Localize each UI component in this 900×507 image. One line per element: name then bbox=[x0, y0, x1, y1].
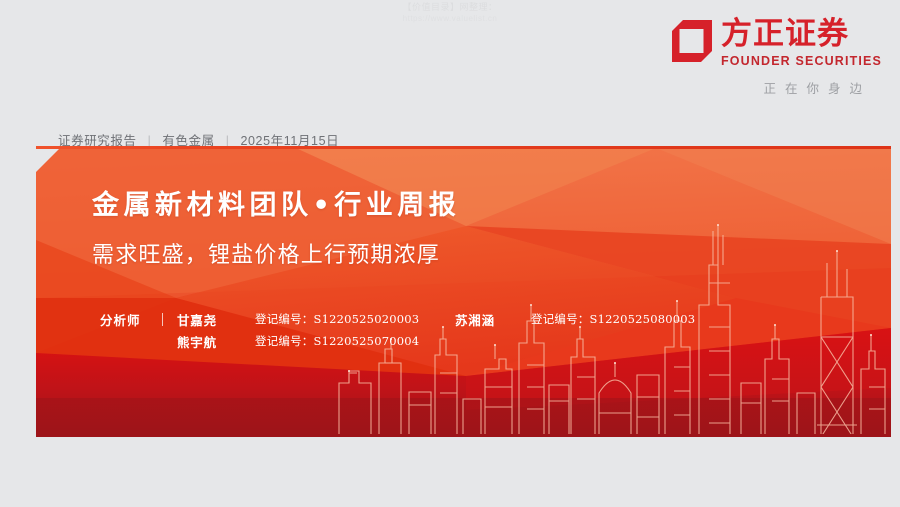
analyst-label: 分析师 bbox=[100, 310, 152, 329]
analyst-name: 熊宇航 bbox=[177, 332, 255, 351]
analyst-registration: 登记编号：S1220525080003 bbox=[531, 311, 731, 327]
analyst-row: 熊宇航 登记编号：S1220525070004 bbox=[100, 330, 731, 352]
founder-cube-logo-icon bbox=[672, 20, 712, 62]
brand-name-cn: 方正证券 bbox=[721, 18, 882, 51]
banner-bottom-rule bbox=[36, 434, 891, 437]
breadcrumb-accent-rule bbox=[36, 146, 891, 149]
watermark-line-1: 【价值目录】网整理： bbox=[402, 2, 497, 12]
page-title: 金属新材料团队•行业周报 bbox=[92, 189, 460, 223]
report-cover-page: 【价值目录】网整理： https://www.valuelist.cn 方正证券… bbox=[0, 0, 900, 507]
breadcrumb-separator: | bbox=[148, 133, 152, 147]
analyst-name: 苏湘涵 bbox=[455, 310, 531, 329]
page-subtitle: 需求旺盛，锂盐价格上行预期浓厚 bbox=[92, 241, 440, 271]
analyst-divider bbox=[162, 313, 163, 326]
analyst-registration: 登记编号：S1220525070004 bbox=[255, 333, 455, 349]
analyst-row: 分析师 甘嘉尧 登记编号：S1220525020003 苏湘涵 登记编号：S12… bbox=[100, 308, 731, 330]
brand-text: 方正证券 FOUNDER SECURITIES bbox=[721, 18, 882, 69]
brand-name-en: FOUNDER SECURITIES bbox=[721, 53, 882, 69]
breadcrumb-separator: | bbox=[226, 133, 230, 147]
brand-block: 方正证券 FOUNDER SECURITIES 正在你身边 bbox=[672, 18, 882, 97]
analyst-block: 分析师 甘嘉尧 登记编号：S1220525020003 苏湘涵 登记编号：S12… bbox=[100, 308, 731, 352]
brand-row: 方正证券 FOUNDER SECURITIES bbox=[672, 18, 882, 69]
analyst-name: 甘嘉尧 bbox=[177, 310, 255, 329]
brand-slogan: 正在你身边 bbox=[763, 78, 880, 97]
analyst-divider-spacer bbox=[162, 335, 163, 348]
analyst-registration: 登记编号：S1220525020003 bbox=[255, 311, 455, 327]
